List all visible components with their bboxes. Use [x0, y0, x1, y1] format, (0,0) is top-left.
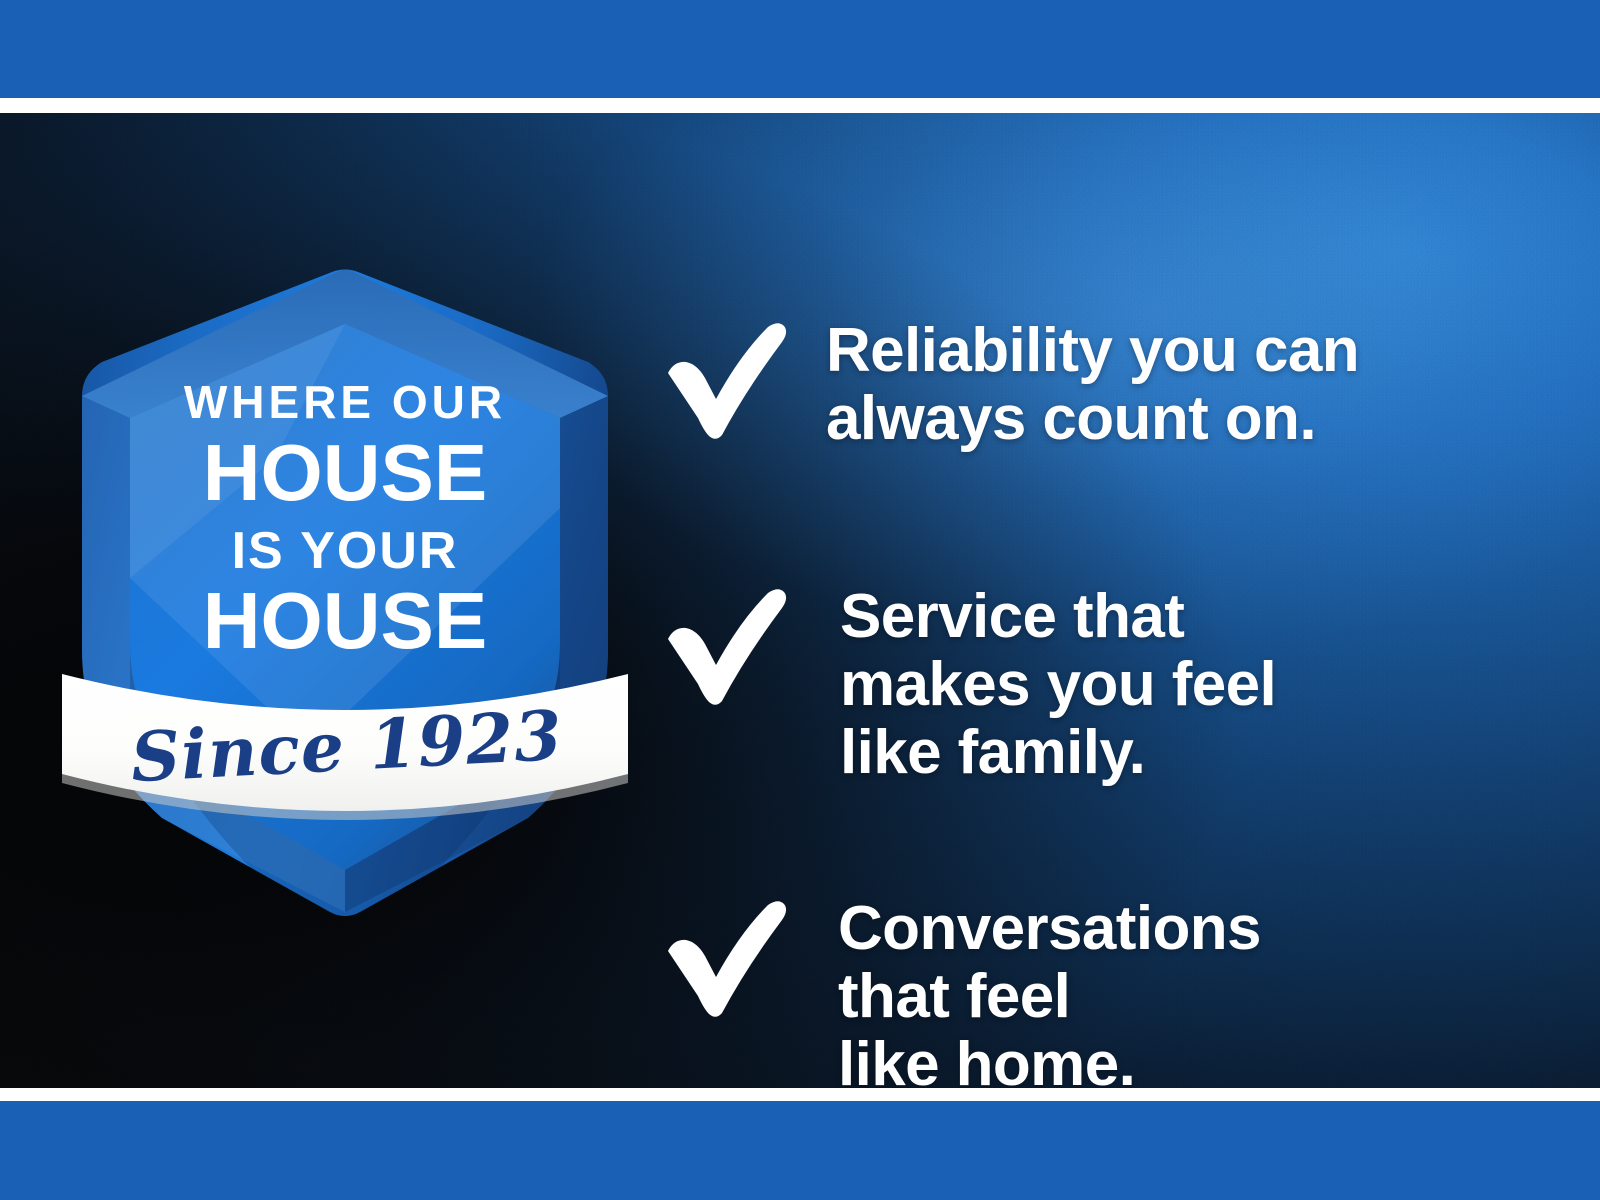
claim-item: Reliability you can always count on. [660, 315, 1560, 453]
checkmark-icon [660, 899, 790, 1017]
claim-item: Conversations that feel like home. [660, 893, 1560, 1088]
shield-badge-icon: WHERE OUR HOUSE IS YOUR HOUSE Since 1923 [60, 278, 630, 928]
checkmark-icon [660, 587, 790, 705]
checkmark-icon [660, 321, 790, 439]
badge-line-4: HOUSE [203, 576, 488, 665]
claim-item: Service that makes you feel like family. [660, 581, 1560, 788]
badge-line-1: WHERE OUR [184, 376, 506, 428]
promo-banner: WHERE OUR HOUSE IS YOUR HOUSE Since 1923 [0, 0, 1600, 1200]
claim-text: Conversations that feel like home. [838, 893, 1560, 1088]
badge-line-2: HOUSE [203, 428, 488, 517]
badge-line-3: IS YOUR [232, 522, 459, 580]
banner-stage: WHERE OUR HOUSE IS YOUR HOUSE Since 1923 [0, 113, 1600, 1088]
top-accent-bar [0, 0, 1600, 98]
claim-text: Reliability you can always count on. [826, 315, 1560, 453]
bottom-accent-bar [0, 1101, 1600, 1200]
claim-text: Service that makes you feel like family. [840, 581, 1560, 788]
brand-badge: WHERE OUR HOUSE IS YOUR HOUSE Since 1923 [60, 278, 630, 928]
claims-list: Reliability you can always count on. Ser… [660, 293, 1560, 1088]
